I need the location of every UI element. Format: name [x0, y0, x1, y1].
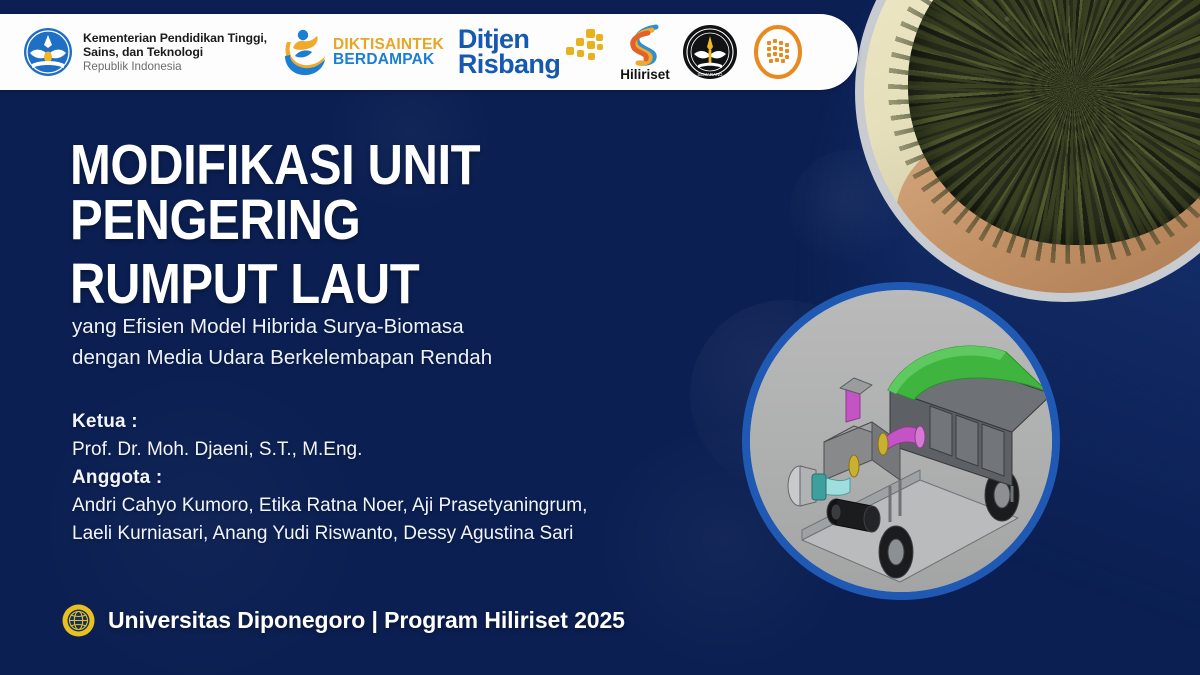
anggota-line-1: Andri Cahyo Kumoro, Etika Ratna Noer, Aj…: [72, 492, 752, 520]
poster-canvas: Kementerian Pendidikan Tinggi, Sains, da…: [0, 0, 1200, 675]
title-line-2: RUMPUT LAUT: [70, 257, 638, 312]
pixel-dots-icon: [562, 29, 604, 63]
seaweed-photo-circle: [855, 0, 1200, 302]
tut-wuri-handayani-logo-icon: [22, 26, 74, 78]
globe-icon: [62, 604, 95, 637]
seaweed-cluster: [908, 0, 1200, 245]
poster-title: MODIFIKASI UNIT PENGERING RUMPUT LAUT: [70, 138, 638, 312]
ketua-label: Ketua :: [72, 408, 752, 436]
ministry-line-1: Kementerian Pendidikan Tinggi,: [83, 31, 267, 45]
title-line-1: MODIFIKASI UNIT PENGERING: [70, 133, 480, 252]
ministry-line-2: Sains, dan Teknologi: [83, 45, 267, 59]
subtitle-line-2: dengan Media Udara Berkelembapan Rendah: [72, 342, 692, 373]
poster-subtitle: yang Efisien Model Hibrida Surya-Biomasa…: [72, 311, 692, 373]
universitas-diponegoro-seal-icon: SEMARANG: [682, 24, 738, 80]
diktisaintek-line-2: BERDAMPAK: [333, 52, 444, 68]
ministry-logo-block: Kementerian Pendidikan Tinggi, Sains, da…: [22, 26, 267, 78]
diktisaintek-figure-icon: [281, 26, 328, 78]
diktisaintek-logo-block: DIKTISAINTEK BERDAMPAK: [281, 26, 444, 78]
partner-logo-bar: Kementerian Pendidikan Tinggi, Sains, da…: [0, 14, 858, 90]
ministry-name-text: Kementerian Pendidikan Tinggi, Sains, da…: [83, 31, 267, 73]
anggota-label: Anggota :: [72, 464, 752, 492]
subtitle-line-1: yang Efisien Model Hibrida Surya-Biomasa: [72, 311, 692, 342]
ditjen-risbang-logo-block: Ditjen Risbang: [458, 27, 604, 77]
orange-ring-logo-icon: [750, 24, 806, 80]
research-team-block: Ketua : Prof. Dr. Moh. Djaeni, S.T., M.E…: [72, 408, 752, 549]
diktisaintek-line-1: DIKTISAINTEK: [333, 37, 444, 53]
hiliriset-logo-block: Hiliriset: [620, 22, 670, 82]
hiliriset-label: Hiliriset: [620, 67, 670, 82]
hiliriset-swoosh-icon: [622, 22, 668, 68]
ketua-name: Prof. Dr. Moh. Djaeni, S.T., M.Eng.: [72, 436, 752, 464]
ministry-line-3: Republik Indonesia: [83, 60, 267, 73]
dryer-cad-circle: [742, 282, 1060, 600]
diktisaintek-wordmark: DIKTISAINTEK BERDAMPAK: [333, 37, 444, 68]
anggota-line-2: Laeli Kurniasari, Anang Yudi Riswanto, D…: [72, 520, 752, 548]
poster-footer: Universitas Diponegoro | Program Hiliris…: [62, 604, 625, 637]
svg-text:SEMARANG: SEMARANG: [697, 72, 723, 77]
ditjen-wordmark: Ditjen Risbang: [458, 27, 560, 77]
dryer-cad-drawing: [750, 290, 1052, 592]
footer-label: Universitas Diponegoro | Program Hiliris…: [108, 607, 625, 634]
ditjen-line-2: Risbang: [458, 52, 560, 77]
